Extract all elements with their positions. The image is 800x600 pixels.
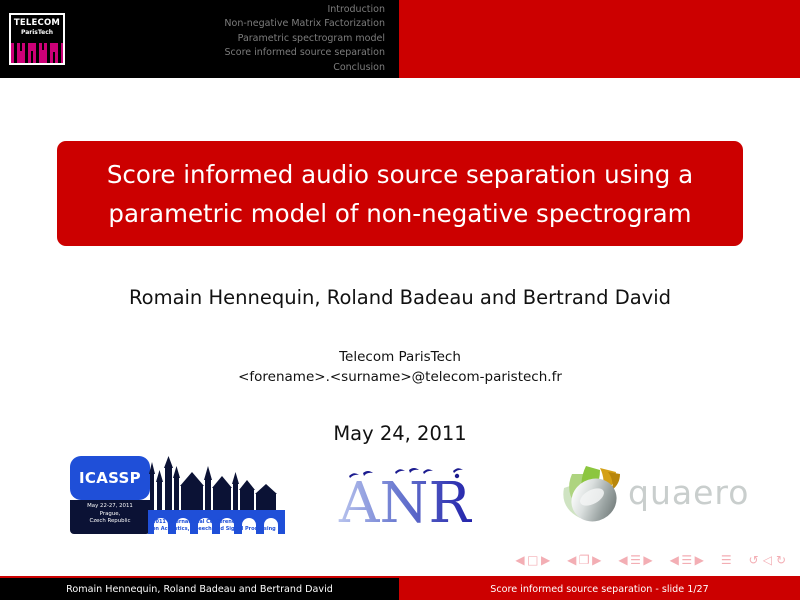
quaero-wordmark: quaero bbox=[628, 476, 749, 509]
telecom-paristech-logo: TELECOM ParisTech bbox=[9, 13, 65, 65]
anr-logo: ANR bbox=[335, 460, 505, 530]
presentation-date: May 24, 2011 bbox=[0, 422, 800, 445]
affiliation-block: Telecom ParisTech <forename>.<surname>@t… bbox=[0, 347, 800, 387]
header-right-red-panel bbox=[399, 0, 800, 78]
title-line-1: Score informed audio source separation u… bbox=[107, 155, 693, 194]
icassp-logo: ICASSP May 22-27, 2011 Prague, Czech Rep… bbox=[70, 456, 285, 534]
footer-title-and-slide-number: Score informed source separation - slide… bbox=[399, 578, 800, 600]
footer-author-text: Romain Hennequin, Roland Badeau and Bert… bbox=[0, 578, 399, 600]
svg-text:ANR: ANR bbox=[338, 471, 472, 530]
toc-item-conclusion[interactable]: Conclusion bbox=[85, 61, 385, 75]
nav-prev-slide-icon[interactable]: ◀ bbox=[515, 554, 524, 566]
telecom-wordmark: TELECOM bbox=[11, 19, 63, 28]
quaero-logo: quaero bbox=[556, 454, 761, 534]
toc-item-score-informed-source-separation[interactable]: Score informed source separation bbox=[85, 46, 385, 60]
nav-prev-subsection-icon[interactable]: ◀ bbox=[618, 554, 627, 566]
nav-next-subsection-icon[interactable]: ▶ bbox=[643, 554, 652, 566]
header-table-of-contents: Introduction Non-negative Matrix Factori… bbox=[85, 3, 385, 75]
nav-prev-section-icon[interactable]: ◀ bbox=[670, 554, 679, 566]
affiliation-email: <forename>.<surname>@telecom-paristech.f… bbox=[0, 367, 800, 387]
nav-next-section-icon[interactable]: ▶ bbox=[695, 554, 704, 566]
telecom-logo-magenta-band bbox=[11, 43, 63, 63]
nav-group-slide[interactable]: ◀ □ ▶ bbox=[515, 554, 550, 566]
nav-subsection-icon[interactable]: ☰ bbox=[630, 554, 641, 566]
icassp-venue-block: May 22-27, 2011 Prague, Czech Republic bbox=[70, 500, 150, 534]
nav-group-subsection[interactable]: ◀ ☰ ▶ bbox=[618, 554, 652, 566]
toc-item-introduction[interactable]: Introduction bbox=[85, 3, 385, 17]
nav-search-icon[interactable]: ◁ bbox=[763, 554, 772, 566]
author-list: Romain Hennequin, Roland Badeau and Bert… bbox=[0, 286, 800, 309]
icassp-dates: May 22-27, 2011 bbox=[70, 503, 150, 511]
toc-item-nmf[interactable]: Non-negative Matrix Factorization bbox=[85, 17, 385, 31]
nav-next-slide-icon[interactable]: ▶ bbox=[541, 554, 550, 566]
header-left-black-panel: TELECOM ParisTech Introduction No bbox=[0, 0, 399, 78]
nav-group-section[interactable]: ◀ ☰ ▶ bbox=[670, 554, 704, 566]
icassp-conference-title: 2011 International Conference on Acousti… bbox=[152, 519, 287, 532]
title-box: Score informed audio source separation u… bbox=[57, 141, 743, 246]
affiliation-institution: Telecom ParisTech bbox=[339, 349, 461, 365]
nav-next-frame-icon[interactable]: ▶ bbox=[592, 554, 601, 566]
slide-header: TELECOM ParisTech Introduction No bbox=[0, 0, 800, 78]
nav-slide-icon[interactable]: □ bbox=[527, 554, 538, 566]
beamer-navigation-bar[interactable]: ◀ □ ▶ ◀ ❐ ▶ ◀ ☰ ▶ ◀ ☰ ▶ ☰ ↺ ◁ ↻ bbox=[515, 551, 786, 569]
icassp-conference-line-2: on Acoustics, Speech and Signal Processi… bbox=[152, 526, 287, 533]
paristech-wordmark: ParisTech bbox=[11, 29, 63, 37]
nav-back-icon[interactable]: ↺ bbox=[749, 554, 759, 566]
nav-group-frame[interactable]: ◀ ❐ ▶ bbox=[567, 554, 601, 566]
telecom-logo-text-block: TELECOM ParisTech bbox=[11, 15, 63, 43]
presentation-slide: TELECOM ParisTech Introduction No bbox=[0, 0, 800, 600]
title-line-2: parametric model of non-negative spectro… bbox=[108, 194, 691, 233]
icassp-city: Prague, bbox=[70, 511, 150, 519]
quaero-emblem-icon bbox=[556, 454, 634, 526]
icassp-country: Czech Republic bbox=[70, 518, 150, 526]
sponsor-logo-row: ICASSP May 22-27, 2011 Prague, Czech Rep… bbox=[0, 450, 800, 540]
slide-footer: Romain Hennequin, Roland Badeau and Bert… bbox=[0, 576, 800, 600]
nav-prev-frame-icon[interactable]: ◀ bbox=[567, 554, 576, 566]
nav-forward-icon[interactable]: ↻ bbox=[776, 554, 786, 566]
icassp-badge-label: ICASSP bbox=[70, 456, 150, 500]
toc-item-parametric-spectrogram-model[interactable]: Parametric spectrogram model bbox=[85, 32, 385, 46]
nav-toc-icon[interactable]: ☰ bbox=[721, 554, 732, 566]
nav-section-icon[interactable]: ☰ bbox=[681, 554, 692, 566]
icassp-conference-line-1: 2011 International Conference bbox=[152, 519, 287, 526]
nav-frame-icon[interactable]: ❐ bbox=[579, 554, 590, 566]
